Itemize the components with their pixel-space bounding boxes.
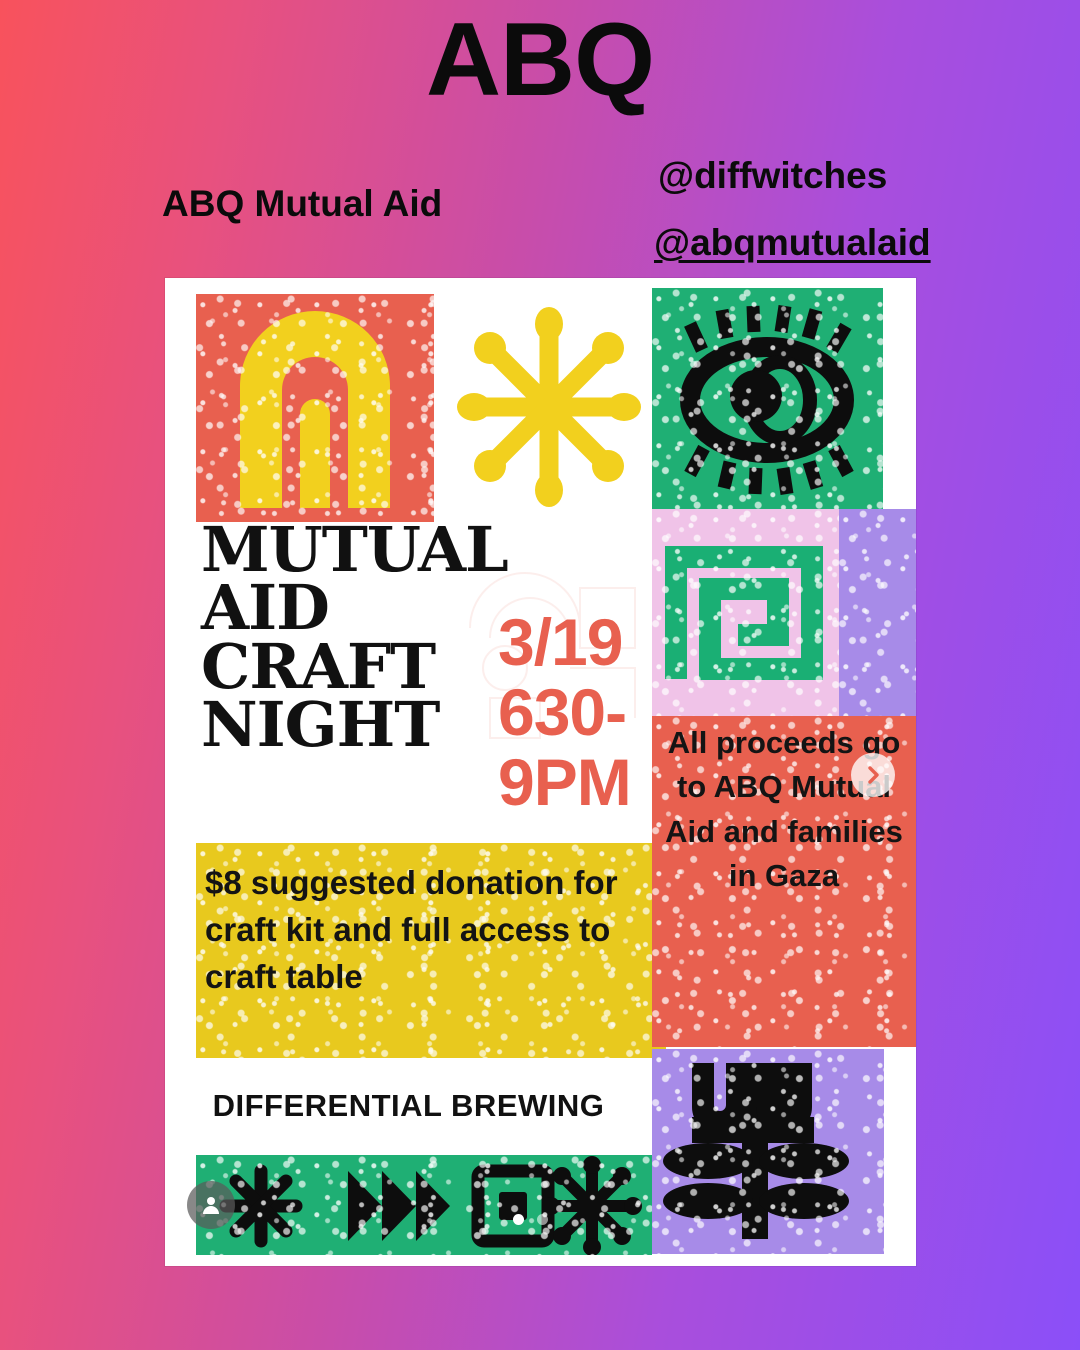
page-title: ABQ bbox=[0, 8, 1080, 112]
carousel-dot-active[interactable] bbox=[513, 1214, 524, 1225]
lavender-accent-block bbox=[839, 509, 916, 722]
flower-icon bbox=[652, 1049, 884, 1254]
spiral-square-icon-block bbox=[652, 509, 842, 722]
chevron-right-icon bbox=[863, 765, 883, 785]
header-banner: ABQ ABQ Mutual Aid @diffwitches @abqmutu… bbox=[0, 0, 1080, 275]
starburst-icon-block bbox=[454, 296, 644, 518]
organization-name: ABQ Mutual Aid bbox=[162, 183, 442, 225]
donation-text: $8 suggested donation for craft kit and … bbox=[205, 860, 645, 1001]
eye-icon-block bbox=[652, 288, 883, 516]
venue-name: DIFFERENTIAL BREWING bbox=[165, 1088, 652, 1124]
arch-icon-block bbox=[196, 294, 434, 522]
headline-line: NIGHT bbox=[201, 696, 501, 754]
poster-headline: MUTUAL AID CRAFT NIGHT bbox=[201, 521, 501, 754]
flower-icon-block bbox=[652, 1049, 884, 1254]
event-time-line-1: 630- bbox=[498, 678, 658, 748]
carousel-dot[interactable] bbox=[537, 1214, 548, 1225]
avatar[interactable] bbox=[187, 1181, 235, 1229]
poster-image[interactable]: MUTUAL AID CRAFT NIGHT 3/19 630- 9PM $8 … bbox=[165, 278, 916, 1266]
event-datetime: 3/19 630- 9PM bbox=[498, 608, 658, 818]
next-slide-button[interactable] bbox=[851, 753, 895, 797]
handle-primary[interactable]: @diffwitches bbox=[658, 155, 887, 197]
eye-icon bbox=[652, 288, 883, 516]
person-icon bbox=[199, 1193, 223, 1217]
carousel-dots[interactable] bbox=[513, 1214, 548, 1225]
event-date: 3/19 bbox=[498, 608, 658, 678]
proceeds-text: All proceeds go to ABQ Mutual Aid and fa… bbox=[655, 721, 913, 898]
square-in-square-icon bbox=[478, 1171, 548, 1241]
triple-chevron-icon bbox=[348, 1171, 450, 1241]
spiral-square-icon bbox=[652, 509, 842, 722]
headline-line: AID bbox=[201, 579, 501, 637]
handle-secondary[interactable]: @abqmutualaid bbox=[654, 222, 931, 264]
asterisk-icon bbox=[226, 1171, 296, 1241]
event-time-line-2: 9PM bbox=[498, 748, 658, 818]
arch-icon bbox=[196, 294, 434, 522]
icon-bar-block bbox=[196, 1155, 652, 1255]
starburst-icon bbox=[454, 296, 644, 518]
